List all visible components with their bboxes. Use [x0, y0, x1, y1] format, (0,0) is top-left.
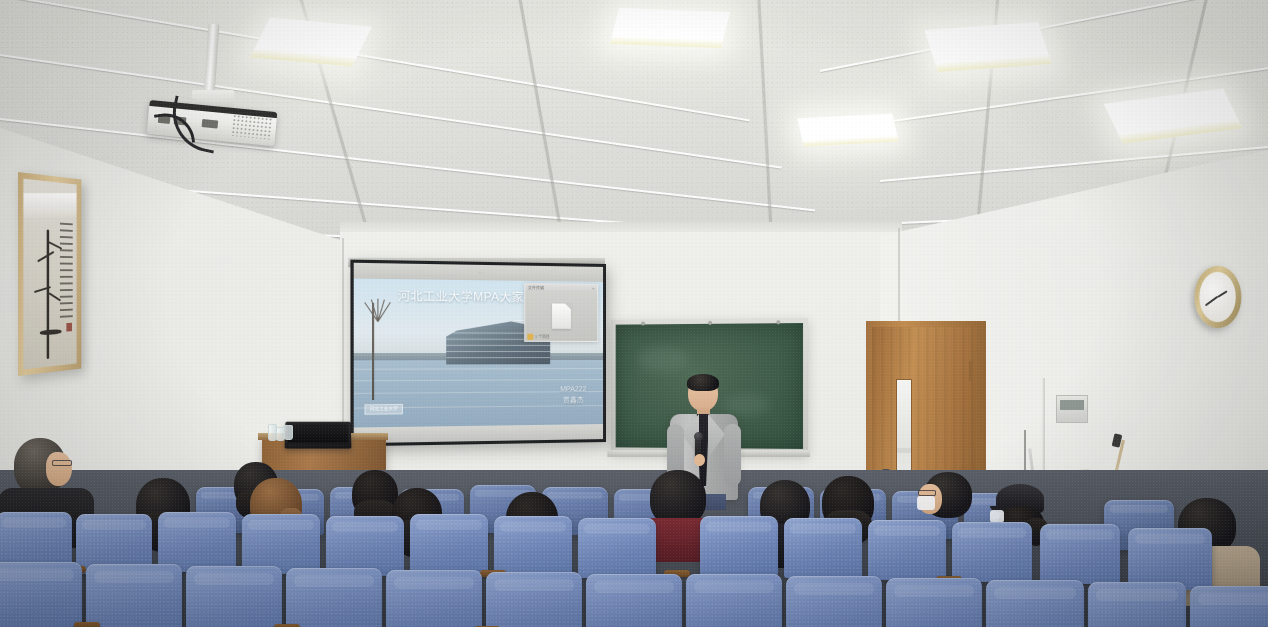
seat[interactable]: [242, 514, 320, 574]
projection-screen: ··· 河北工业大学MPA大家 ——考公经验分享: [350, 260, 606, 447]
seat[interactable]: [86, 564, 182, 627]
board-screw: [708, 321, 712, 325]
seat[interactable]: [586, 574, 682, 627]
classroom-scene: ··· 河北工业大学MPA大家 ——考公经验分享: [0, 0, 1268, 627]
microphone-head: [694, 432, 703, 441]
ceiling-light-2: [610, 8, 730, 48]
slide-author-name: 贾鑫杰: [560, 396, 586, 407]
water-bottle: [284, 425, 293, 440]
seat[interactable]: [578, 518, 656, 578]
attendee-face: [46, 452, 72, 486]
painting-calligraphy: [60, 223, 73, 318]
popup-close-icon[interactable]: ×: [592, 286, 594, 291]
seat[interactable]: [868, 520, 946, 580]
popup-title-bar: 文件传输 ×: [525, 284, 598, 293]
seat[interactable]: [410, 514, 488, 574]
glass-glare: [23, 193, 76, 218]
seat[interactable]: [1088, 582, 1186, 627]
presenter-hand: [694, 454, 705, 466]
glasses: [918, 490, 936, 496]
seat[interactable]: [986, 580, 1084, 627]
seat[interactable]: [486, 572, 582, 627]
slide: 河北工业大学MPA大家 ——考公经验分享 MPA222 贾鑫杰 河北工业大学 文…: [354, 279, 603, 427]
seat[interactable]: [1128, 528, 1212, 590]
presenter-hair: [687, 374, 719, 391]
file-popup-window[interactable]: 文件传输 × 1 个项目: [524, 283, 599, 342]
presenter-arm-right: [724, 424, 741, 486]
slide-author-class: MPA222: [560, 385, 586, 396]
clock-minute-hand: [1205, 296, 1218, 306]
projected-desktop: ··· 河北工业大学MPA大家 ——考公经验分享: [354, 263, 603, 443]
seat[interactable]: [326, 516, 404, 576]
clock-face: [1199, 271, 1236, 322]
seat[interactable]: [186, 566, 282, 627]
seat-armrest: [74, 622, 100, 627]
clock-hour-hand: [1217, 290, 1227, 297]
seat[interactable]: [886, 578, 982, 627]
seat[interactable]: [0, 562, 82, 627]
painting-branch: [47, 229, 50, 359]
slide-author: MPA222 贾鑫杰: [560, 385, 586, 407]
popup-title: 文件传输: [528, 285, 544, 291]
face-mask: [917, 496, 935, 510]
painting-seal: [66, 323, 72, 332]
seat[interactable]: [700, 516, 778, 576]
popup-footer: 1 个项目: [527, 334, 550, 340]
desktop-taskbar[interactable]: [354, 424, 603, 444]
lectern-monitor: [285, 422, 352, 449]
seat[interactable]: [1040, 524, 1120, 584]
ceiling-light-3: [924, 22, 1051, 72]
seat[interactable]: [386, 570, 482, 627]
desktop-top-bar-text: ···: [479, 270, 484, 275]
glasses: [52, 460, 72, 466]
projector-vent: [231, 114, 273, 140]
seat[interactable]: [784, 518, 862, 578]
framed-painting: [18, 172, 81, 376]
popup-document-icon: [552, 304, 571, 329]
painting-canvas: [23, 179, 76, 370]
seat[interactable]: [1190, 586, 1268, 627]
door-hinge: [969, 361, 972, 381]
ceiling-light-4: [797, 114, 898, 147]
seat[interactable]: [286, 568, 382, 627]
seat[interactable]: [686, 574, 782, 627]
board-screw: [641, 321, 645, 325]
chalk-smudge: [638, 346, 690, 372]
board-screw: [776, 320, 780, 324]
painting-branch: [40, 329, 62, 335]
slide-tree-branches: [365, 298, 389, 321]
seat[interactable]: [786, 576, 882, 627]
popup-folder-icon: [527, 334, 533, 340]
electrical-panel-box: [1056, 395, 1088, 423]
seat[interactable]: [952, 522, 1032, 582]
seat[interactable]: [494, 516, 572, 576]
slide-badge: 河北工业大学: [364, 404, 403, 415]
seat[interactable]: [158, 512, 236, 572]
popup-item-count: 1 个项目: [535, 335, 550, 340]
